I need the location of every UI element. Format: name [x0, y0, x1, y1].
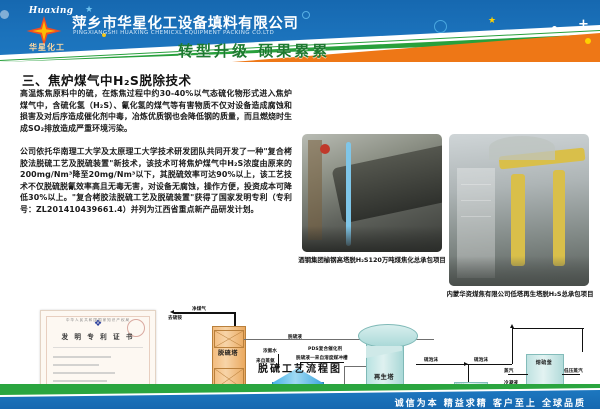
certificate-header: 中华人民共和国国家知识产权局 [41, 318, 155, 323]
label-pds-catalyst: PDS复合催化剂 [308, 346, 342, 352]
project-photo-2 [449, 134, 589, 286]
decor-dot-3 [585, 38, 591, 44]
company-name-en: PINGXIANGSHI HUAXING CHEMICXL EQUIPMENT … [73, 30, 493, 36]
decor-dot-1 [0, 10, 9, 19]
footer-slogan: 诚信为本 精益求精 客户至上 全球品质 [395, 396, 586, 409]
decor-star-icon: ★ [488, 17, 496, 26]
logo-cn-text: 华星化工 [14, 42, 80, 53]
paragraph-2: 公司依托华南理工大学及太原理工大学技术研发团队共同开发了一种"复合栲胶法脱硫工艺… [20, 146, 292, 216]
photo-caption-2: 内蒙华资煤焦有限公司低塔再生塔脱H₂S总承包项目 [444, 290, 596, 299]
page-header: ★ + Huaxing 华星化工 ★ 萍乡市华星化工设备填料有限公司 PINGX… [0, 0, 600, 62]
paragraph-1: 高温炼焦原料中的硫，在炼焦过程中约30-40%以气态硫化物形式进入焦炉煤气中，含… [20, 88, 292, 134]
label-to-sulfur-ammonia: 去硫铵 [168, 315, 182, 321]
page-content: 三、焦炉煤气中H₂S脱除技术 高温炼焦原料中的硫，在炼焦过程中约30-40%以气… [0, 62, 600, 384]
photo-caption-1: 酒钢集团榆钢高塔脱H₂S120万吨煤焦化总承包项目 [296, 256, 448, 265]
label-clean-gas: 净煤气 [192, 306, 206, 312]
unit-label-regeneration-tower: 再生塔 [366, 374, 402, 381]
brochure-page: ★ + Huaxing 华星化工 ★ 萍乡市华星化工设备填料有限公司 PINGX… [0, 0, 600, 409]
certificate-title: 发 明 专 利 证 书 [41, 331, 155, 341]
label-ammonia-water: 浓氨水 [263, 348, 277, 354]
header-slogan: 转型升级 硕果累累 [178, 40, 330, 61]
decor-dot-2 [552, 26, 557, 31]
flow-diagram-caption: 脱硫工艺流程图 [0, 360, 600, 375]
unit-label-desulfurization-tower: 脱硫塔 [212, 350, 244, 357]
page-footer: 诚信为本 精益求精 客户至上 全球品质 [0, 384, 600, 409]
decor-plus-icon: + [578, 18, 589, 31]
section-title: 三、焦炉煤气中H₂S脱除技术 [22, 70, 191, 89]
label-desulf-liquid-top: 脱硫液 [288, 334, 302, 340]
project-photo-1 [302, 134, 442, 252]
